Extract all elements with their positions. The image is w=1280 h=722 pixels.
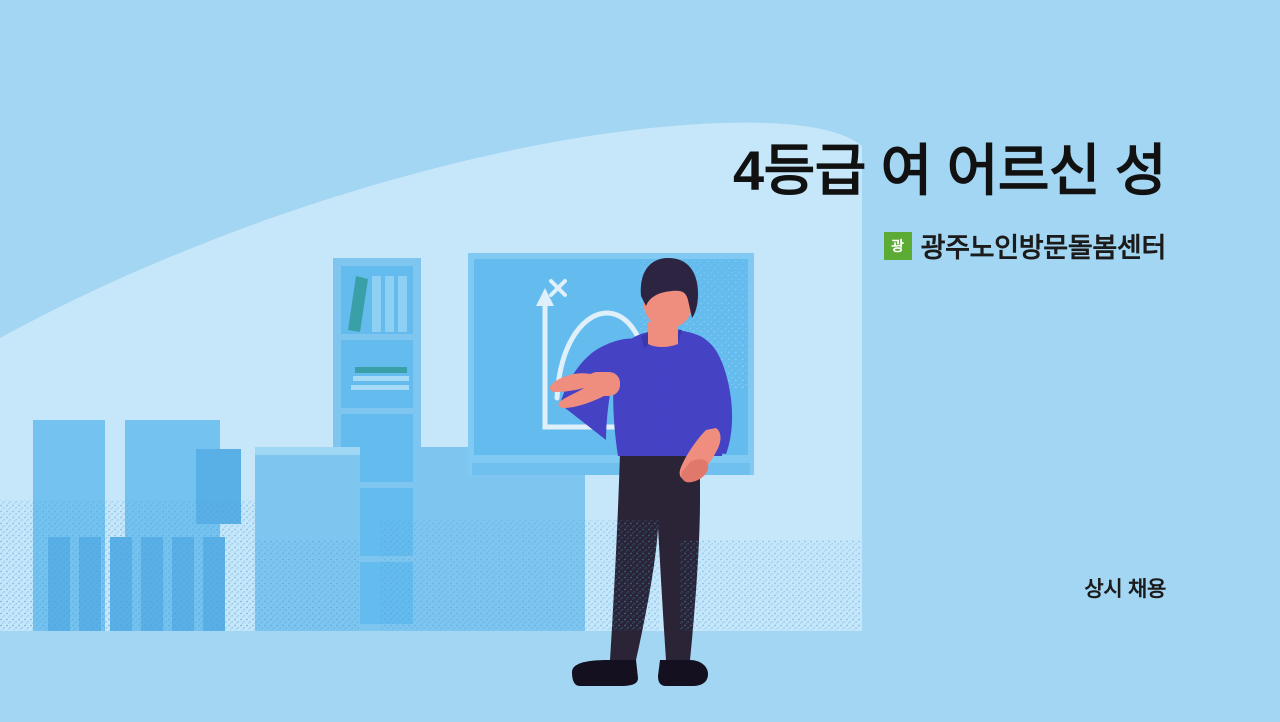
company-name[interactable]: 광주노인방문돌봄센터: [921, 226, 1166, 265]
hiring-period-label: 상시 채용: [1084, 573, 1166, 603]
job-posting-card: 4등급 여 어르신 성 광 광주노인방문돌봄센터 상시 채용: [0, 0, 1280, 722]
posting-text-block: 4등급 여 어르신 성 광 광주노인방문돌봄센터: [106, 138, 1166, 265]
company-badge-icon: 광: [884, 232, 912, 260]
bookshelf-shelf-2: [341, 340, 413, 408]
bookshelf-books-stack: [351, 367, 409, 390]
presenter-shoe-left: [572, 660, 638, 686]
desk-speckle: [255, 540, 360, 631]
illustration-layer: [0, 0, 1280, 722]
whiteboard-ledge: [472, 463, 750, 475]
floor-speckle: [380, 520, 860, 631]
desk: [255, 447, 360, 631]
bookshelf-books-top: [348, 276, 407, 332]
job-title: 4등급 여 어르신 성: [106, 138, 1166, 204]
presenter-shoe-right: [658, 660, 708, 686]
company-row[interactable]: 광 광주노인방문돌봄센터: [106, 226, 1166, 265]
